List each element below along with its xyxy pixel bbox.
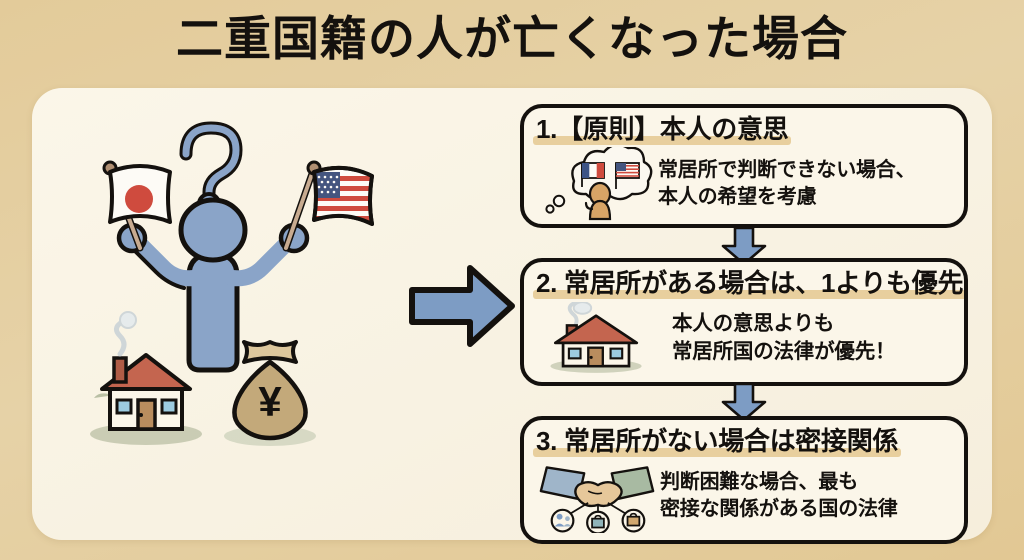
text-segment: 判断困難な場合、: [660, 471, 818, 493]
step-2-heading-text: 2. 常居所がある場合は、1よりも優先: [536, 268, 963, 298]
thinking-person-flags-icon: [532, 147, 662, 221]
step-1-heading-text: 1.【原則】本人の意思: [536, 114, 788, 144]
step-box-1[interactable]: 1.【原則】本人の意思: [520, 104, 968, 228]
text-segment: 常居所で判断できない場合、: [658, 159, 915, 181]
step-2-heading: 2. 常居所がある場合は、1よりも優先: [536, 268, 963, 300]
step-1-body-line-2: 本人の希望を考慮: [658, 184, 964, 211]
svg-text:¥: ¥: [258, 378, 282, 425]
step-2-body-line-2: 常居所国の法律が優先！: [672, 338, 964, 365]
text-segment: 常居所国の法律が優先！: [672, 340, 895, 363]
japan-flag-icon: [104, 162, 170, 248]
handshake-network-icon: [532, 459, 662, 533]
page-title-text: 二重国籍の人が亡くなった場合: [176, 14, 848, 65]
step-2-body: 本人の意思よりも 常居所国の法律が優先！: [672, 310, 964, 365]
text-segment: 本人の: [658, 186, 717, 208]
steps-flow: 1.【原則】本人の意思: [512, 100, 978, 540]
step-3-heading-text: 3. 常居所がない場合は密接関係: [536, 426, 898, 456]
step-box-2[interactable]: 2. 常居所がある場合は、1よりも優先: [520, 258, 968, 386]
step-3-heading: 3. 常居所がない場合は密接関係: [536, 426, 898, 458]
step-2-body-line-1: 本人の意思よりも: [672, 310, 964, 337]
step-1-heading: 1.【原則】本人の意思: [536, 114, 788, 146]
step-3-body-line-2: 密接な関係がある国の法律: [660, 496, 964, 523]
dual-nationality-illustration: ¥: [58, 100, 398, 460]
step-1-body: 常居所で判断できない場合、 本人の希望を考慮: [658, 157, 964, 210]
text-segment: がある国の法律: [759, 498, 898, 520]
person-head: [181, 200, 245, 260]
flow-arrow-right-icon: [408, 258, 516, 354]
text-segment-highlighted: 最も: [818, 469, 858, 496]
text-segment: 本人の意思よりも: [672, 312, 834, 335]
text-segment-highlighted: 希望: [717, 184, 757, 211]
house-icon: [532, 301, 662, 375]
house-icon: [90, 312, 202, 445]
page-title: 二重国籍の人が亡くなった場合: [0, 14, 1024, 65]
text-segment: を考慮: [757, 186, 816, 208]
step-3-body: 判断困難な場合、最も 密接な関係がある国の法律: [660, 469, 964, 522]
step-1-body-line-1: 常居所で判断できない場合、: [658, 157, 964, 184]
step-box-3[interactable]: 3. 常居所がない場合は密接関係: [520, 416, 968, 544]
text-segment-highlighted: 密接な関係: [660, 496, 759, 523]
step-3-body-line-1: 判断困難な場合、最も: [660, 469, 964, 496]
